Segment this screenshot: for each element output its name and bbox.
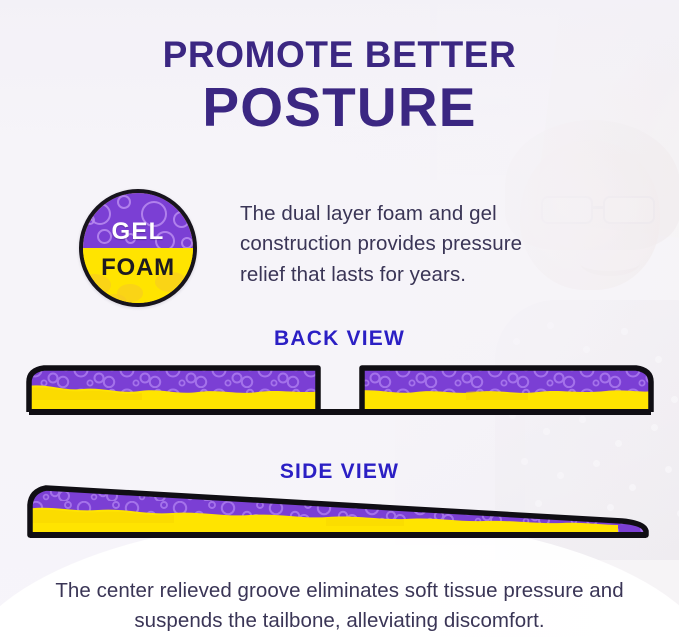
infographic-canvas: PROMOTE BETTER POSTURE GEL FOAM The dual…: [0, 0, 679, 637]
back-view-label: BACK VIEW: [0, 327, 679, 351]
intro-paragraph: The dual layer foam and gel construction…: [240, 199, 570, 290]
bottom-caption: The center relieved groove eliminates so…: [30, 576, 649, 635]
page-title: PROMOTE BETTER POSTURE: [0, 36, 679, 135]
back-view-diagram: [26, 362, 654, 418]
badge-foam-label: FOAM: [83, 256, 193, 280]
badge-gel-label: GEL: [83, 220, 193, 244]
headline-line-1: PROMOTE BETTER: [0, 36, 679, 73]
headline-line-2: POSTURE: [0, 80, 679, 135]
gel-foam-badge: GEL FOAM: [79, 189, 197, 307]
side-view-diagram: [26, 477, 654, 543]
